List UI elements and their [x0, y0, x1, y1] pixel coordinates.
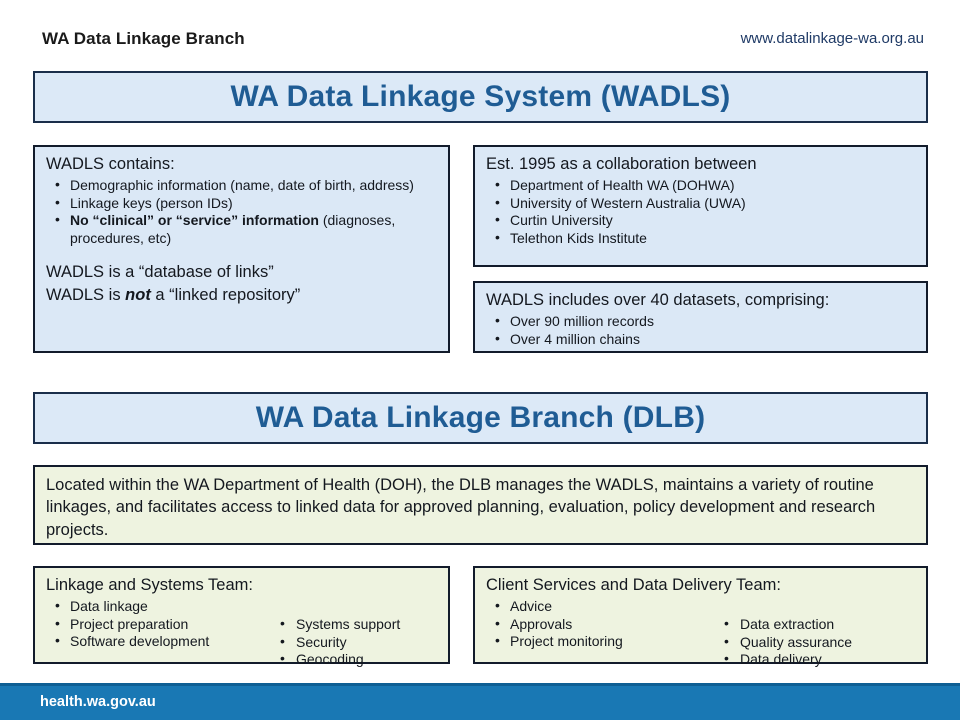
page-title: WA Data Linkage Branch — [42, 29, 245, 49]
client-team-list-left: Advice Approvals Project monitoring — [486, 598, 718, 652]
datasets-stats-list: Over 90 million records Over 4 million c… — [486, 313, 916, 349]
emphasis-not: not — [125, 286, 151, 304]
spacer — [46, 248, 438, 261]
list-item: Geocoding — [274, 651, 400, 669]
list-item: Software development — [46, 633, 274, 651]
list-item: University of Western Australia (UWA) — [486, 195, 916, 213]
list-item: Project preparation — [46, 616, 274, 634]
linkage-team-heading: Linkage and Systems Team: — [46, 575, 438, 596]
list-item: Systems support — [274, 616, 400, 634]
dlb-description-box: Located within the WA Department of Heal… — [33, 465, 928, 545]
client-team-columns: Advice Approvals Project monitoring Data… — [486, 598, 916, 670]
list-item: Advice — [486, 598, 718, 616]
wadls-contains-heading: WADLS contains: — [46, 154, 438, 175]
linkage-team-list-left: Data linkage Project preparation Softwar… — [46, 598, 274, 652]
list-item: Curtin University — [486, 212, 916, 230]
datasets-heading: WADLS includes over 40 datasets, compris… — [486, 290, 916, 311]
list-item: Data extraction — [718, 616, 852, 634]
wadls-not-linked-repository-line: WADLS is not a “linked repository” — [46, 284, 438, 306]
list-item: Approvals — [486, 616, 718, 634]
list-item: Data linkage — [46, 598, 274, 616]
banner-wadls-label: WA Data Linkage System (WADLS) — [231, 80, 731, 114]
list-item: Data delivery — [718, 651, 852, 669]
wadls-database-of-links-line: WADLS is a “database of links” — [46, 261, 438, 283]
wadls-contains-box: WADLS contains: Demographic information … — [33, 145, 450, 353]
linkage-team-columns: Data linkage Project preparation Softwar… — [46, 598, 438, 670]
list-item-bold-text: No “clinical” or “service” information — [70, 212, 319, 228]
section-banner-wadls: WA Data Linkage System (WADLS) — [33, 71, 928, 123]
footer-url: health.wa.gov.au — [40, 694, 156, 710]
list-item: No “clinical” or “service” information (… — [46, 212, 438, 248]
established-heading: Est. 1995 as a collaboration between — [486, 154, 916, 175]
list-item: Over 90 million records — [486, 313, 916, 331]
list-item: Telethon Kids Institute — [486, 230, 916, 248]
list-item: Security — [274, 634, 400, 652]
banner-dlb-label: WA Data Linkage Branch (DLB) — [256, 401, 706, 435]
datasets-summary-box: WADLS includes over 40 datasets, compris… — [473, 281, 928, 353]
client-services-team-box: Client Services and Data Delivery Team: … — [473, 566, 928, 664]
list-item: Linkage keys (person IDs) — [46, 195, 438, 213]
client-team-heading: Client Services and Data Delivery Team: — [486, 575, 916, 596]
dlb-description-text: Located within the WA Department of Heal… — [46, 474, 916, 541]
footer-bar: health.wa.gov.au — [0, 686, 960, 720]
list-item: Demographic information (name, date of b… — [46, 177, 438, 195]
established-collaboration-box: Est. 1995 as a collaboration between Dep… — [473, 145, 928, 267]
linkage-team-list-right: Systems support Security Geocoding — [274, 598, 400, 670]
established-partners-list: Department of Health WA (DOHWA) Universi… — [486, 177, 916, 249]
list-item: Quality assurance — [718, 634, 852, 652]
list-item: Project monitoring — [486, 633, 718, 651]
section-banner-dlb: WA Data Linkage Branch (DLB) — [33, 392, 928, 444]
website-url: www.datalinkage-wa.org.au — [741, 30, 924, 47]
linkage-systems-team-box: Linkage and Systems Team: Data linkage P… — [33, 566, 450, 664]
client-team-list-right: Data extraction Quality assurance Data d… — [718, 598, 852, 670]
wadls-contains-list: Demographic information (name, date of b… — [46, 177, 438, 249]
list-item: Over 4 million chains — [486, 331, 916, 349]
list-item: Department of Health WA (DOHWA) — [486, 177, 916, 195]
